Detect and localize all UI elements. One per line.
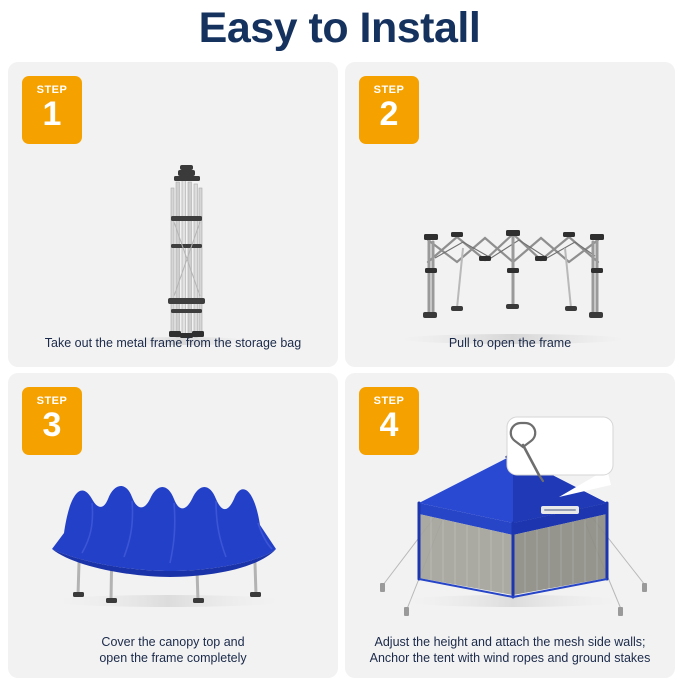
step-badge-number-2: 2 <box>359 97 419 131</box>
step-caption-1: Take out the metal frame from the storag… <box>8 335 338 351</box>
step-badge-1: STEP 1 <box>22 76 82 144</box>
step-card-1: STEP 1 <box>8 62 338 367</box>
step-caption-2: Pull to open the frame <box>345 335 675 351</box>
step-caption-3-line1: Cover the canopy top and <box>101 635 244 649</box>
page-title: Easy to Install <box>0 4 679 53</box>
step-badge-3: STEP 3 <box>22 387 82 455</box>
step-card-3: STEP 3 <box>8 373 338 678</box>
step-badge-number-1: 1 <box>22 97 82 131</box>
step-card-4: STEP 4 <box>345 373 675 678</box>
step-caption-4: Adjust the height and attach the mesh si… <box>345 634 675 666</box>
step-badge-number-3: 3 <box>22 408 82 442</box>
steps-grid: STEP 1 <box>8 62 671 678</box>
step-caption-3-line2: open the frame completely <box>99 651 246 665</box>
step-card-2: STEP 2 <box>345 62 675 367</box>
step-caption-4-line2: Anchor the tent with wind ropes and grou… <box>370 651 651 665</box>
step-caption-3: Cover the canopy top and open the frame … <box>8 634 338 666</box>
step-badge-2: STEP 2 <box>359 76 419 144</box>
step-badge-number-4: 4 <box>359 408 419 442</box>
step-caption-4-line1: Adjust the height and attach the mesh si… <box>375 635 646 649</box>
step-badge-4: STEP 4 <box>359 387 419 455</box>
instruction-sheet: Easy to Install STEP 1 <box>0 0 679 684</box>
